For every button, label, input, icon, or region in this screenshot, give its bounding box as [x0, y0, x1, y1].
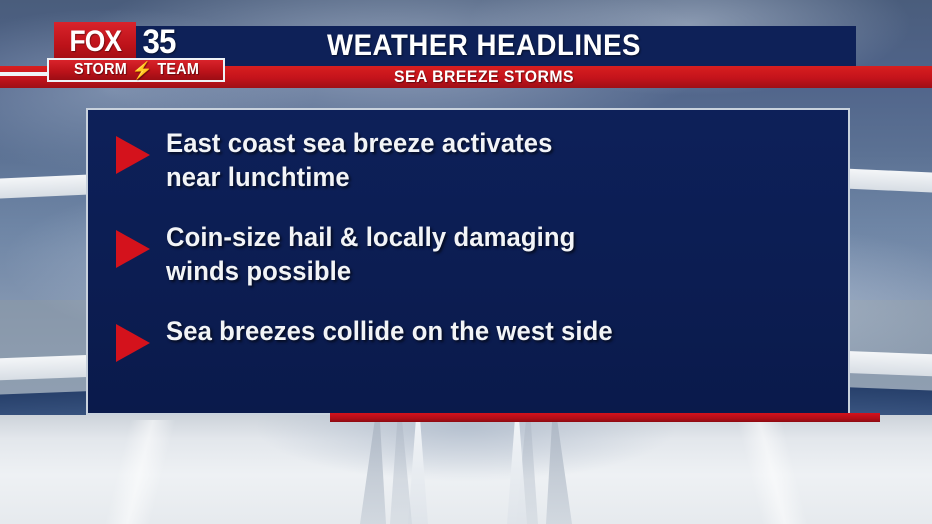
red-triangle-icon	[116, 136, 150, 174]
fox-wordmark: FOX	[69, 25, 121, 59]
floor-edge-highlight-right	[632, 420, 932, 524]
fox35-storm-team-logo: FOX 35 STORM ⚡ TEAM	[54, 22, 230, 64]
storm-text: STORM	[74, 61, 127, 79]
lightning-bolt-icon: ⚡	[132, 62, 153, 79]
storm-team-badge: STORM ⚡ TEAM	[47, 58, 225, 82]
headline-text: Coin-size hail & locally damaging winds …	[166, 220, 575, 288]
page-subtitle: SEA BREEZE STORMS	[138, 65, 830, 89]
headline-text: East coast sea breeze activates near lun…	[166, 126, 553, 194]
red-triangle-icon	[116, 324, 150, 362]
logo-connector-line	[0, 72, 50, 76]
team-text: TEAM	[157, 61, 199, 79]
floor-edge-highlight-left	[0, 420, 300, 524]
fox-logo-box: FOX	[54, 22, 136, 62]
list-item: Sea breezes collide on the west side	[110, 314, 826, 362]
channel-number: 35	[143, 21, 202, 63]
headlines-list: East coast sea breeze activates near lun…	[86, 108, 850, 415]
list-item: East coast sea breeze activates near lun…	[110, 126, 826, 194]
headline-text: Sea breezes collide on the west side	[166, 314, 613, 348]
red-triangle-icon	[116, 230, 150, 268]
weather-graphic-stage: WEATHER HEADLINES SEA BREEZE STORMS FOX …	[0, 0, 932, 524]
page-title: WEATHER HEADLINES	[142, 25, 826, 67]
list-item: Coin-size hail & locally damaging winds …	[110, 220, 826, 288]
